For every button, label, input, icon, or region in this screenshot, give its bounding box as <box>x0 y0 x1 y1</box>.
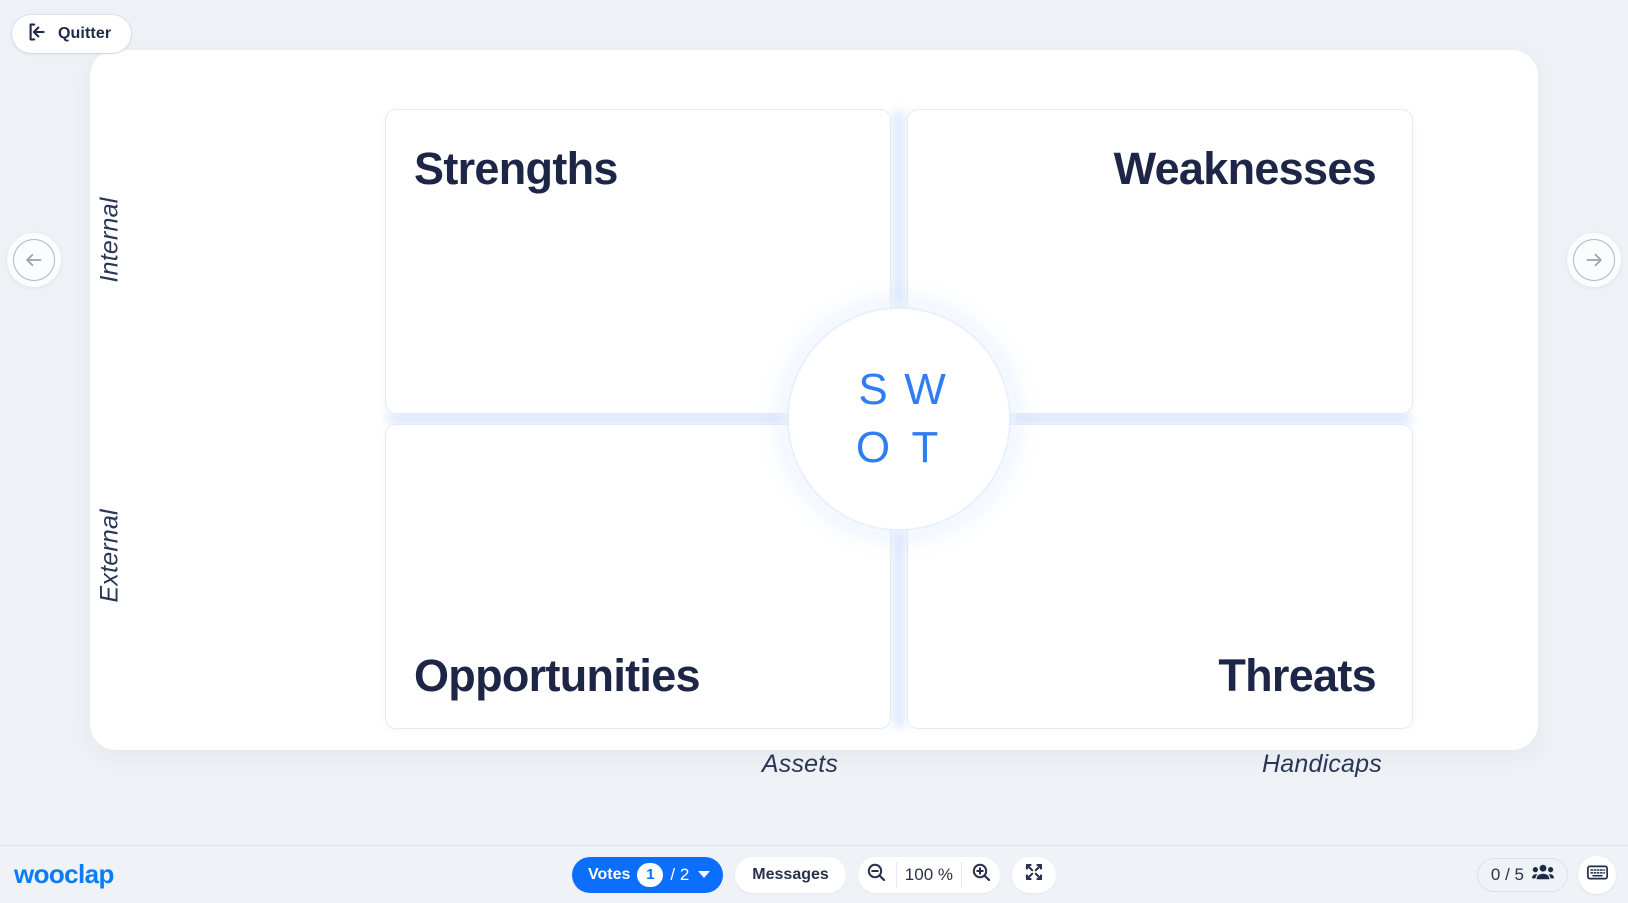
arrow-right-circle-icon <box>1573 239 1615 281</box>
exit-door-arrow-left-icon <box>28 23 47 46</box>
swot-center-badge: S W O T <box>799 319 999 519</box>
keyboard-shortcuts-button[interactable] <box>1578 856 1616 894</box>
swot-letter-w: W <box>904 368 946 412</box>
wooclap-presentation-screen: Quitter Internal Externa <box>0 0 1628 903</box>
zoom-in-icon <box>972 863 991 887</box>
quit-button[interactable]: Quitter <box>12 15 131 53</box>
swot-letter-s: S <box>858 368 887 412</box>
next-slide-button[interactable] <box>1567 233 1621 287</box>
axis-label-handicaps: Handicaps <box>1070 750 1574 779</box>
quadrant-title-weaknesses: Weaknesses <box>1114 146 1376 191</box>
zoom-level-value[interactable]: 100 % <box>896 862 962 888</box>
arrow-left-circle-icon <box>13 239 55 281</box>
axis-label-external: External <box>96 563 125 603</box>
votes-dropdown-button[interactable]: Votes 1 / 2 <box>572 857 723 893</box>
slide-stage: Quitter Internal Externa <box>0 0 1628 845</box>
chevron-down-icon <box>698 871 710 878</box>
fullscreen-button[interactable] <box>1012 857 1056 893</box>
participants-count-label: 0 / 5 <box>1491 865 1524 885</box>
participants-counter[interactable]: 0 / 5 <box>1477 858 1568 892</box>
zoom-controls: 100 % <box>858 857 1000 893</box>
quadrant-title-threats: Threats <box>1218 653 1376 698</box>
quadrant-title-strengths: Strengths <box>414 146 618 191</box>
zoom-in-button[interactable] <box>962 857 1000 893</box>
quadrant-title-opportunities: Opportunities <box>414 653 700 698</box>
swot-letter-o: O <box>856 426 890 470</box>
quit-button-label: Quitter <box>58 25 111 43</box>
swot-matrix: Strengths Weaknesses Opportunities Threa… <box>386 110 1412 728</box>
wooclap-logo[interactable]: wooclap <box>14 859 114 890</box>
messages-button[interactable]: Messages <box>735 857 846 893</box>
axis-label-internal: Internal <box>96 243 125 283</box>
zoom-out-button[interactable] <box>858 857 896 893</box>
toolbar-right-group: 0 / 5 <box>1477 856 1616 894</box>
keyboard-icon <box>1587 865 1608 885</box>
previous-slide-button[interactable] <box>7 233 61 287</box>
votes-count-badge: 1 <box>637 863 663 887</box>
people-group-icon <box>1532 864 1554 885</box>
axis-label-assets: Assets <box>548 750 1052 779</box>
votes-label: Votes <box>588 866 630 884</box>
slide-panel: Internal External Assets Handicaps Stren… <box>90 50 1538 750</box>
toolbar-center-group: Votes 1 / 2 Messages <box>572 857 1056 893</box>
votes-total-label: / 2 <box>670 865 689 885</box>
zoom-out-icon <box>867 863 886 887</box>
fullscreen-expand-icon <box>1025 863 1043 886</box>
bottom-toolbar: wooclap Votes 1 / 2 Messages <box>0 845 1628 903</box>
swot-letter-t: T <box>912 426 939 470</box>
